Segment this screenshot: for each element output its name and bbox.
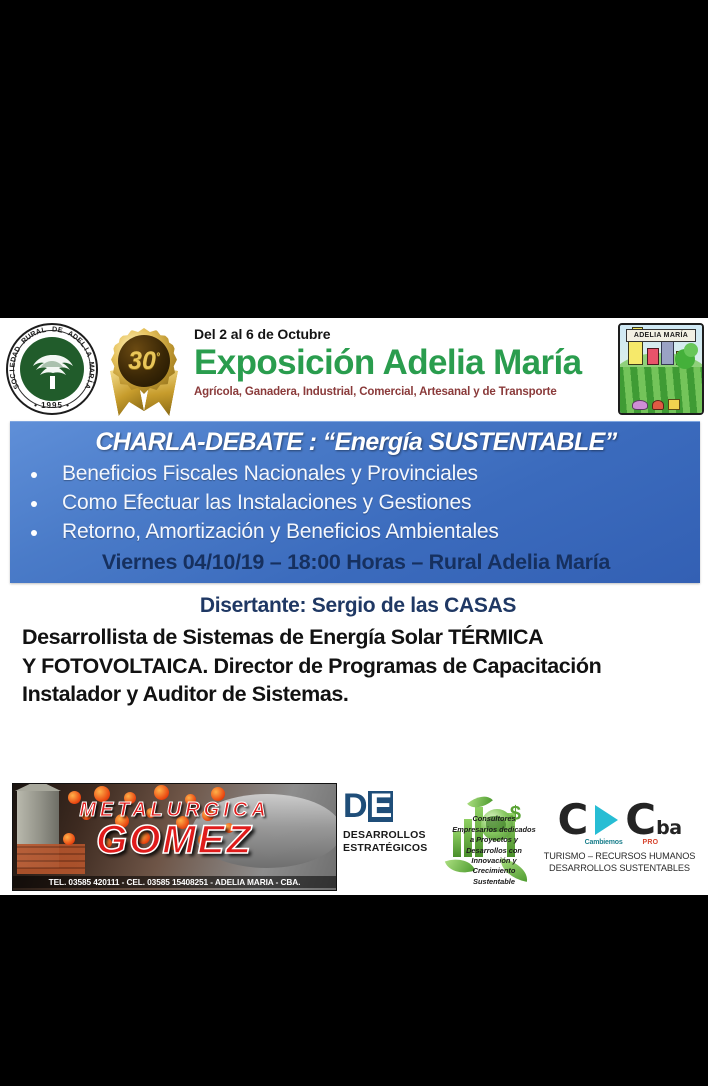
seal-year: • 1995 •	[6, 401, 98, 410]
de-monogram: DE	[343, 791, 447, 822]
expo-titles: Del 2 al 6 de Octubre Exposición Adelia …	[186, 320, 616, 398]
cba-description-line-1: TURISMO – RECURSOS HUMANOS	[537, 850, 702, 862]
medal-number: 30°	[128, 349, 160, 374]
village-building-2	[661, 341, 674, 365]
list-item: Como Efectuar las Instalaciones y Gestio…	[20, 489, 692, 518]
speaker-bio-line-1: Desarrollista de Sistemas de Energía Sol…	[22, 623, 694, 652]
cba-pro-logo-icon: C Cba Cambiemos PRO TURISMO – RECURSOS H…	[537, 783, 702, 891]
letterbox-bar-bottom	[0, 895, 708, 1086]
pro-wordmark: PRO	[643, 839, 659, 846]
gomez-contact-line: TEL. 03585 420111 - CEL. 03585 15408251 …	[13, 876, 336, 888]
expo-dates: Del 2 al 6 de Octubre	[194, 327, 616, 342]
sponsor-strip: METALURGICA GOMEZ TEL. 03585 420111 - CE…	[0, 773, 708, 895]
gomez-word-top: METALURGICA	[13, 800, 336, 820]
de-tagline-line-2: Desarrollos con Innovación y Crecimiento…	[451, 846, 537, 887]
de-name-line-2: ESTRATÉGICOS	[343, 842, 447, 855]
banner-bullet-list: Beneficios Fiscales Nacionales y Provinc…	[20, 460, 692, 547]
cba-description-line-2: DESARROLLOS SUSTENTABLES	[537, 862, 702, 874]
cba-letter-1: C	[557, 803, 588, 837]
village-building-1	[647, 348, 659, 365]
speaker-bio: Desarrollista de Sistemas de Energía Sol…	[22, 623, 694, 709]
speaker-name: Disertante: Sergio de las CASAS	[22, 593, 694, 618]
list-item: Retorno, Amortización y Beneficios Ambie…	[20, 518, 692, 547]
expo-subtitle: Agrícola, Ganadera, Industrial, Comercia…	[194, 386, 616, 398]
village-illustration-icon: ADELIA MARÍA	[618, 323, 704, 415]
cba-letter-2: Cba	[625, 803, 681, 837]
cba-letters-row: C Cba	[537, 803, 702, 837]
de-name-line-1: DESARROLLOS	[343, 829, 447, 842]
award-medal-icon: 30°	[102, 322, 186, 418]
village-label: ADELIA MARÍA	[626, 329, 696, 342]
event-flyer: SOCIEDAD RURAL DE ADELIA MARÍA • 1995 • …	[0, 318, 708, 895]
play-triangle-icon	[595, 805, 618, 835]
charla-debate-banner: CHARLA-DEBATE : “Energía SUSTENTABLE” Be…	[10, 421, 700, 583]
metalurgica-gomez-logo-icon: METALURGICA GOMEZ TEL. 03585 420111 - CE…	[12, 783, 337, 891]
de-tagline: Consultores Empresarios dedicados a Proy…	[451, 814, 537, 887]
cambiemos-wordmark: Cambiemos	[585, 839, 623, 846]
village-produce-1	[632, 400, 648, 410]
cba-description: TURISMO – RECURSOS HUMANOS DESARROLLOS S…	[537, 850, 702, 875]
letterbox-bar-top	[0, 0, 708, 318]
flyer-header: SOCIEDAD RURAL DE ADELIA MARÍA • 1995 • …	[0, 318, 708, 418]
de-tagline-line-1: Consultores Empresarios dedicados a Proy…	[451, 814, 537, 845]
list-item: Beneficios Fiscales Nacionales y Provinc…	[20, 460, 692, 489]
banner-datetime-venue: Viernes 04/10/19 – 18:00 Horas – Rural A…	[20, 549, 692, 576]
village-produce-2	[652, 400, 664, 410]
speaker-bio-line-3: Instalador y Auditor de Sistemas.	[22, 680, 694, 709]
de-text-block: DE DESARROLLOS ESTRATÉGICOS	[343, 783, 447, 891]
speaker-bio-line-2: Y FOTOVOLTAICA. Director de Programas de…	[22, 652, 694, 681]
sociedad-rural-seal: SOCIEDAD RURAL DE ADELIA MARÍA • 1995 •	[6, 323, 98, 415]
medal-inner-disc: 30°	[118, 335, 170, 387]
poster-screen: SOCIEDAD RURAL DE ADELIA MARÍA • 1995 • …	[0, 0, 708, 1086]
village-produce-3	[668, 399, 680, 410]
expo-title: Exposición Adelia María	[194, 343, 616, 382]
de-company-name: DESARROLLOS ESTRATÉGICOS	[343, 829, 447, 855]
gomez-word-main: GOMEZ	[13, 821, 336, 859]
speaker-block: Disertante: Sergio de las CASAS Desarrol…	[0, 583, 708, 710]
desarrollos-estrategicos-logo-icon: DE DESARROLLOS ESTRATÉGICOS $	[337, 783, 537, 891]
de-growth-illustration: $ Consultores Empresarios dedicados a Pr…	[447, 783, 537, 891]
gomez-wordmark: METALURGICA GOMEZ	[13, 800, 336, 859]
banner-title: CHARLA-DEBATE : “Energía SUSTENTABLE”	[20, 428, 692, 457]
village-tree-2	[684, 343, 698, 357]
